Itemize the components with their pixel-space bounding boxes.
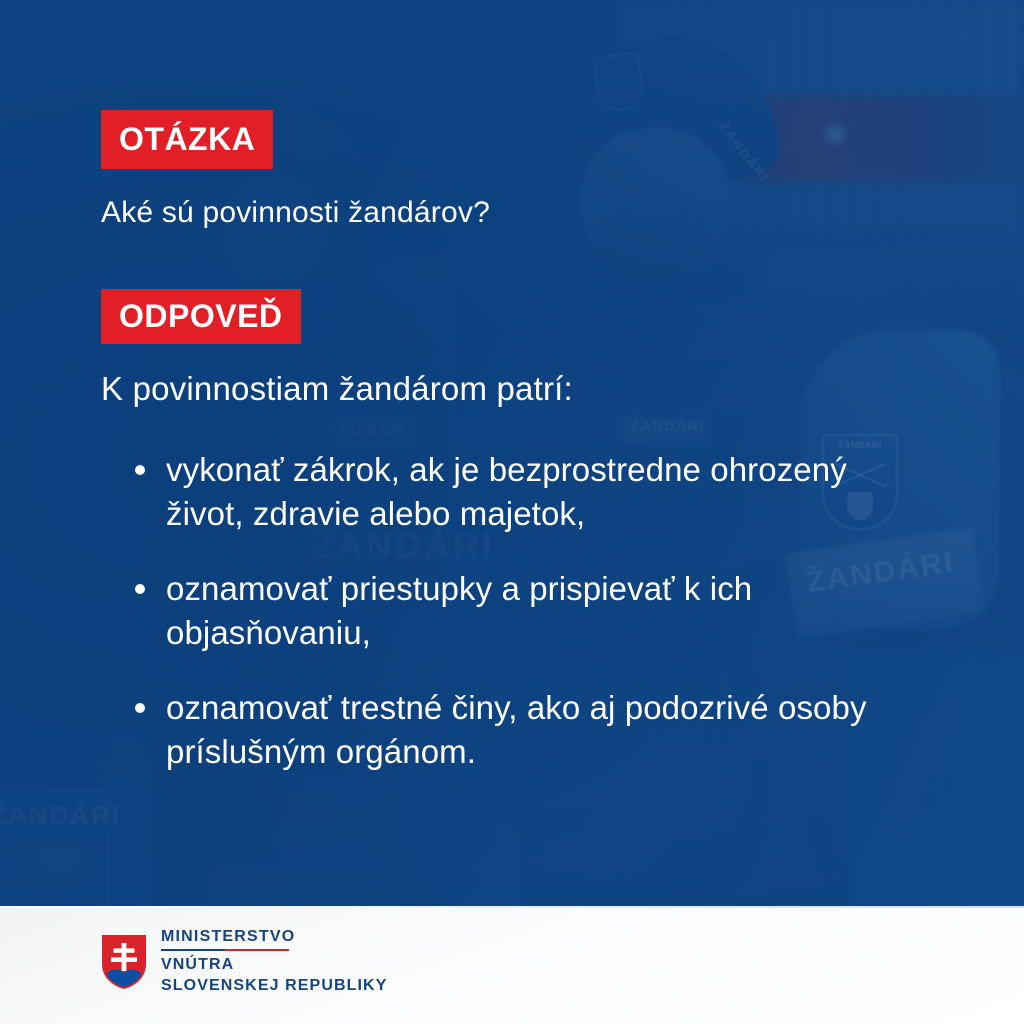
footer-divider bbox=[0, 906, 1024, 908]
list-item: oznamovať priestupky a prispievať k ich … bbox=[126, 567, 926, 654]
answer-bullet-list: vykonať zákrok, ak je bezprostredne ohro… bbox=[126, 448, 926, 805]
ministry-name-line-3: SLOVENSKEJ REPUBLIKY bbox=[161, 976, 387, 996]
ministry-name-line-2: VNÚTRA bbox=[161, 955, 387, 975]
ministry-logo: MINISTERSTVO VNÚTRA SLOVENSKEJ REPUBLIKY bbox=[101, 928, 387, 996]
question-badge: OTÁZKA bbox=[101, 110, 273, 169]
ministry-logo-text: MINISTERSTVO VNÚTRA SLOVENSKEJ REPUBLIKY bbox=[161, 928, 387, 996]
content-layer: OTÁZKA Aké sú povinnosti žandárov? ODPOV… bbox=[0, 0, 1024, 1024]
answer-badge: ODPOVEĎ bbox=[101, 289, 301, 344]
ministry-name-line-1: MINISTERSTVO bbox=[161, 928, 387, 946]
list-item: oznamovať trestné činy, ako aj podozrivé… bbox=[126, 686, 926, 773]
list-item: vykonať zákrok, ak je bezprostredne ohro… bbox=[126, 448, 926, 535]
poster: ŽANDÁRI ŽANDÁRI ŽANDÁRI ŽANDÁRI ŽANDÁRI … bbox=[0, 0, 1024, 1024]
slovak-coat-of-arms-icon bbox=[101, 934, 147, 990]
answer-lead-text: K povinnostiam žandárom patrí: bbox=[101, 370, 573, 408]
footer: MINISTERSTVO VNÚTRA SLOVENSKEJ REPUBLIKY bbox=[0, 906, 1024, 1024]
ministry-logo-rule bbox=[161, 949, 289, 951]
question-text: Aké sú povinnosti žandárov? bbox=[101, 196, 490, 230]
